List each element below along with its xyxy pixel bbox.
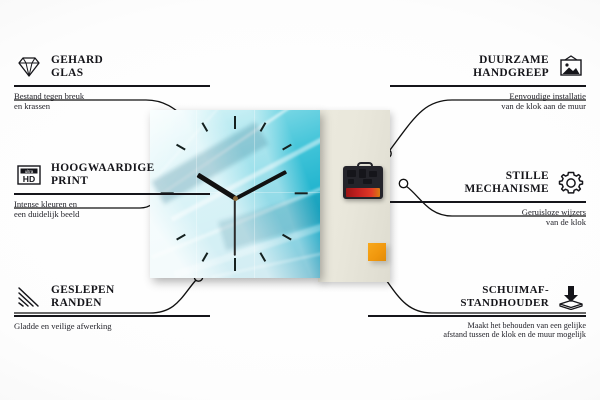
feature-description: Intense kleuren eneen duidelijk beeld [14,199,210,219]
mechanism-battery [346,188,380,197]
feature-divider [14,193,210,195]
arrow-down-pad-icon [556,282,586,312]
feature-divider [368,315,586,317]
feature-divider [14,315,210,317]
feature-divider [14,85,210,87]
feature-divider [390,85,586,87]
feature-gehard-glas[interactable]: GEHARDGLAS Bestand tegen breuken krassen [14,52,210,111]
feature-header: DUURZAMEHANDGREEP [390,52,586,82]
diamond-icon [14,52,44,82]
feature-schuimafstandhouder[interactable]: SCHUIMAF-STANDHOUDER Maakt het behouden … [368,282,586,340]
feature-stille-mechanisme[interactable]: STILLEMECHANISME Geruisloze wijzersvan d… [390,168,586,227]
feature-duurzame-handgreep[interactable]: DUURZAMEHANDGREEP Eenvoudige installatie… [390,52,586,111]
svg-text:HD: HD [23,174,35,184]
clock-mechanism [343,162,383,199]
mechanism-body [343,166,383,199]
feature-divider [390,201,586,203]
gear-icon [556,168,586,198]
feature-geslepen-randen[interactable]: GESLEPENRANDEN Gladde en veilige afwerki… [14,282,210,331]
feature-header: GEHARDGLAS [14,52,210,82]
feature-header: GESLEPENRANDEN [14,282,210,312]
picture-frame-hanger-icon [556,52,586,82]
feature-title: GESLEPENRANDEN [51,284,115,309]
beveled-edge-icon [14,282,44,312]
clock-center-cap [233,196,238,201]
feature-title: GEHARDGLAS [51,54,103,79]
feature-title: DUURZAMEHANDGREEP [473,54,549,79]
feature-title: SCHUIMAF-STANDHOUDER [460,284,549,309]
feature-description: Gladde en veilige afwerking [14,321,210,331]
feature-title: HOOGWAARDIGEPRINT [51,162,155,187]
feature-description: Geruisloze wijzersvan de klok [390,207,586,227]
feature-header: ultra HD HOOGWAARDIGEPRINT [14,160,210,190]
feature-description: Bestand tegen breuken krassen [14,91,210,111]
feature-header: SCHUIMAF-STANDHOUDER [368,282,586,312]
feature-title: STILLEMECHANISME [464,170,549,195]
foam-spacer [368,243,386,261]
feature-description: Eenvoudige installatievan de klok aan de… [390,91,586,111]
feature-hoogwaardige-print[interactable]: ultra HD HOOGWAARDIGEPRINT Intense kleur… [14,160,210,219]
second-hand [234,198,236,256]
ultra-hd-icon: ultra HD [14,160,44,190]
feature-header: STILLEMECHANISME [390,168,586,198]
feature-description: Maakt het behouden van een gelijkeafstan… [368,321,586,340]
infographic-canvas: GEHARDGLAS Bestand tegen breuken krassen… [0,0,600,400]
